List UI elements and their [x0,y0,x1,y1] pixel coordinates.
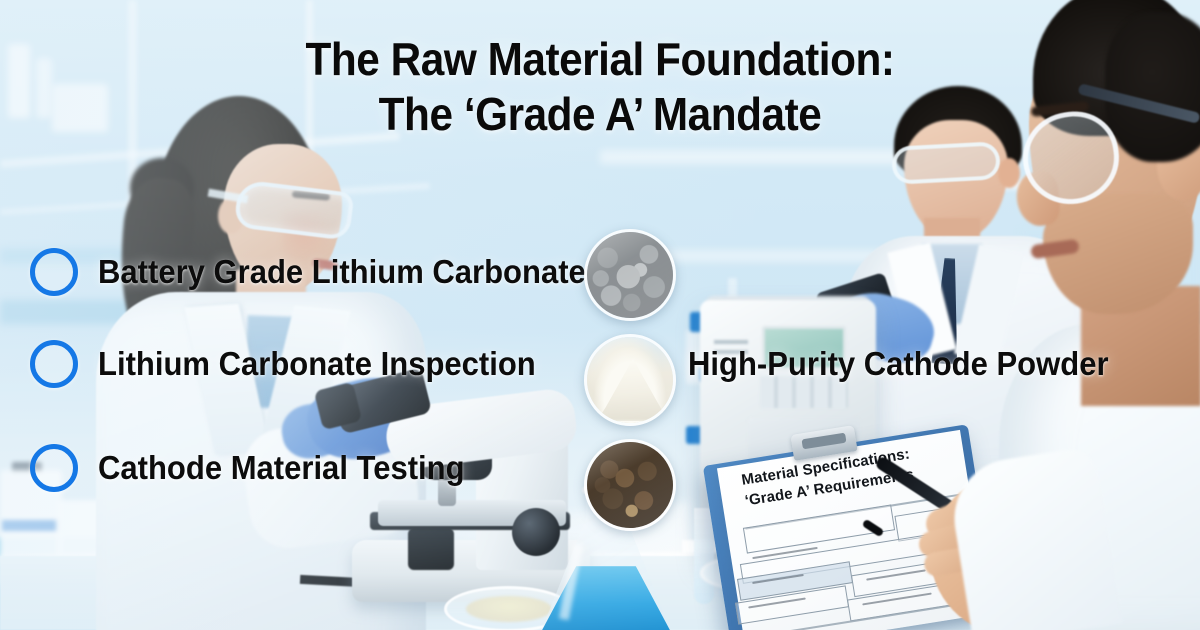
petri-dish-contents [466,596,552,622]
powder-cone [597,359,669,421]
reagent-bottle [8,44,30,118]
white-powder-sample [584,334,676,426]
bottle-label [2,520,60,531]
gray-ore-sample [584,229,676,321]
circle-outline-icon [30,248,78,296]
circle-outline-icon [30,340,78,388]
circle-outline-icon [30,444,78,492]
bullet-item-cathode-material-testing[interactable]: Cathode Material Testing [30,444,488,492]
bullet-label: Battery Grade Lithium Carbonate [98,252,586,292]
bullet-label: Cathode Material Testing [98,448,465,488]
brown-ore-texture [587,442,673,528]
bullet-label: Lithium Carbonate Inspection [98,344,536,384]
white-powder-texture [587,337,673,423]
microscope-condenser [408,528,454,570]
microscope-focus-knob [512,508,560,556]
right-label: High-Purity Cathode Powder [688,344,1109,384]
bullet-item-battery-grade-lithium-carbonate[interactable]: Battery Grade Lithium Carbonate [30,248,617,296]
banner-canvas: Material Specifications: ‘Grade A’ Requi… [0,0,1200,630]
gray-ore-texture [587,232,673,318]
bullet-item-lithium-carbonate-inspection[interactable]: Lithium Carbonate Inspection [30,340,564,388]
brown-ore-sample [584,439,676,531]
page-title: The Raw Material Foundation: The ‘Grade … [48,32,1152,142]
